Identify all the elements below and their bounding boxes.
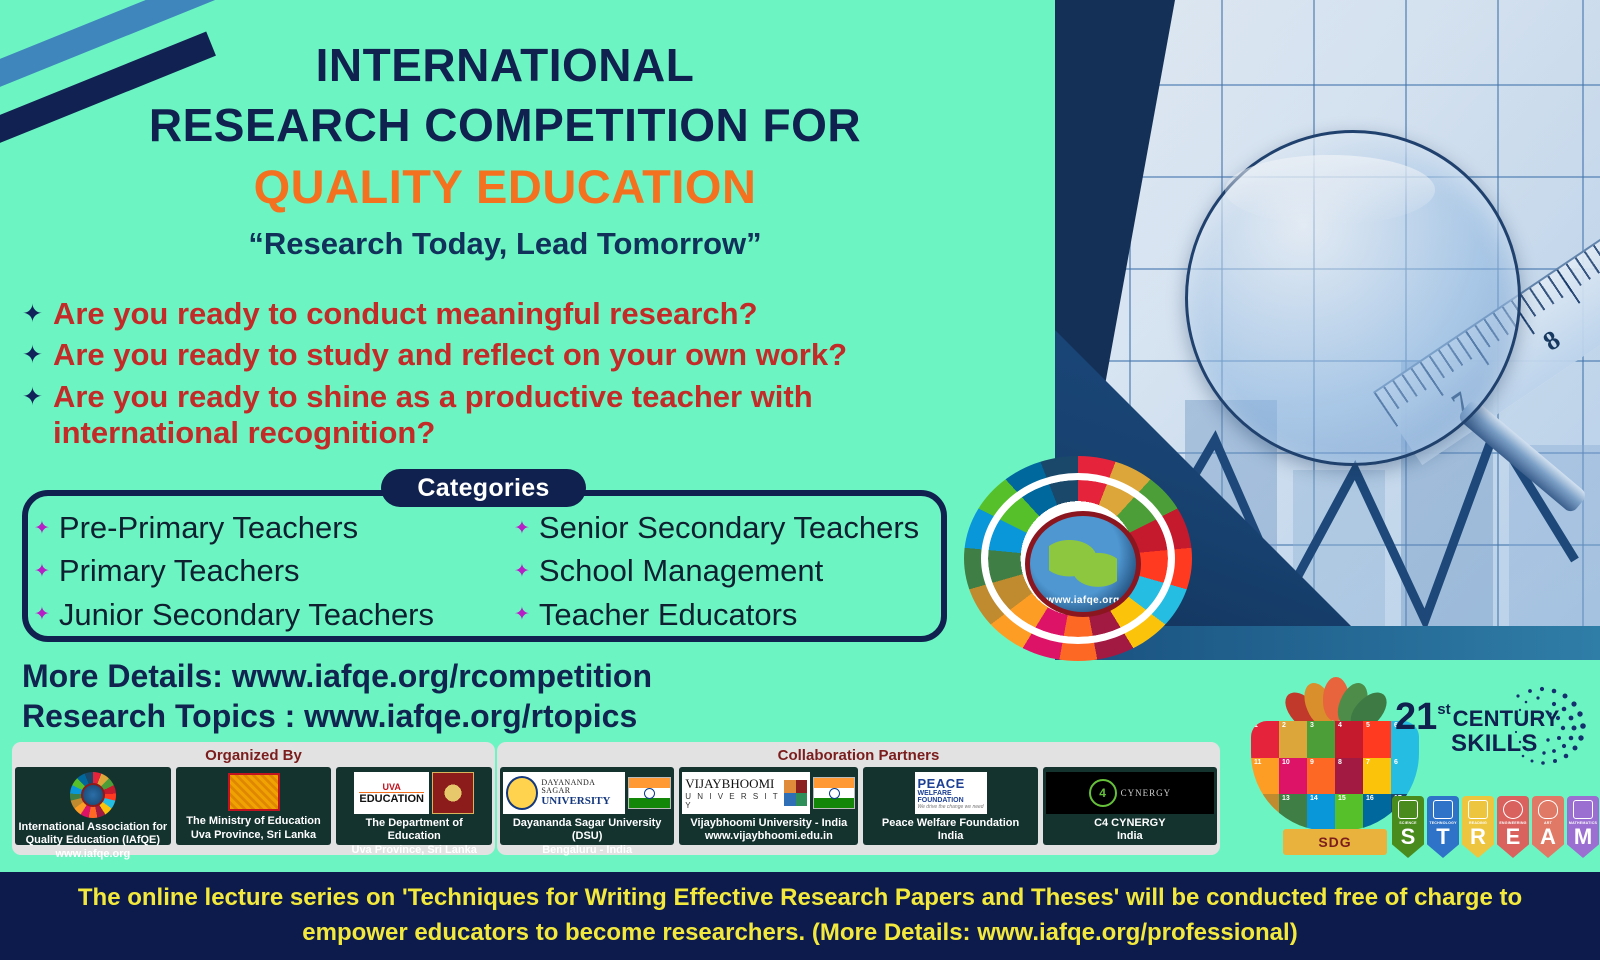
bottom-banner: The online lecture series on 'Techniques…: [0, 872, 1600, 960]
stream-badge-letter: T: [1436, 826, 1449, 848]
stream-badge-technology[interactable]: TECHNOLOGY T: [1427, 796, 1459, 858]
question-text: Are you ready to conduct meaningful rese…: [53, 296, 758, 332]
question-item: ✦ Are you ready to conduct meaningful re…: [22, 296, 982, 332]
partner-caption-line: The Department of Education: [339, 817, 489, 844]
sdg-wheel-logo: www.iafqe.org: [964, 456, 1192, 661]
partner-caption-line: India: [938, 830, 964, 843]
categories-column-right: ✦ Senior Secondary Teachers ✦ School Man…: [514, 508, 939, 638]
partner-caption-line: Quality Education (IAfQE): [26, 834, 160, 847]
stream-badge-letter: R: [1470, 826, 1486, 848]
century-superscript: st: [1437, 703, 1450, 717]
stream-badge-letter: M: [1574, 826, 1592, 848]
sdg-goal-number: 11: [1254, 759, 1261, 766]
uva-logo-top: UVA: [383, 782, 401, 792]
sdg-goal-number: 6: [1394, 759, 1398, 766]
sdg-goal-number: 9: [1310, 759, 1314, 766]
dsu-logo-box: DAYANANDA SAGAR UNIVERSITY: [503, 772, 625, 814]
partner-card[interactable]: 4 CYNERGY C4 CYNERGY India: [1043, 767, 1217, 845]
partner-caption-line: Peace Welfare Foundation: [882, 817, 1019, 830]
sdg-goal-number: 13: [1282, 795, 1290, 802]
century-number: 21: [1395, 700, 1437, 734]
partner-caption-line: Uva Province, Sri Lanka: [352, 844, 477, 857]
partner-caption-line: www.iafqe.org: [55, 848, 130, 861]
poster-canvas: 7 8 9 10 INTERNATIONAL RESEARCH COMPETIT…: [0, 0, 1600, 960]
category-item[interactable]: ✦ School Management: [514, 551, 939, 591]
partner-caption-line: Bengaluru - India: [542, 844, 632, 857]
dsu-logo-bottom: UNIVERSITY: [541, 796, 621, 808]
vijaybhoomi-logo-bottom: U N I V E R S I T Y: [685, 792, 781, 810]
partner-card[interactable]: International Association for Quality Ed…: [15, 767, 171, 845]
sdg-goal-number: 3: [1310, 722, 1314, 729]
details-links: More Details: www.iafqe.org/rcompetition…: [22, 657, 652, 736]
peace-welfare-foundation-logo: PEACE WELFARE FOUNDATION We drive the ch…: [915, 772, 987, 814]
palette-icon: [1538, 800, 1558, 819]
star-bullet-icon: ✦: [514, 560, 530, 583]
uva-logo-bottom: EDUCATION: [359, 792, 424, 805]
stream-badge-letter: A: [1540, 826, 1556, 848]
partner-card[interactable]: PEACE WELFARE FOUNDATION We drive the ch…: [863, 767, 1037, 845]
category-label: School Management: [539, 551, 823, 591]
collaboration-partners-panel: Collaboration Partners DAYANANDA SAGAR U…: [497, 742, 1220, 855]
pot-base-label: SDG: [1318, 834, 1351, 850]
gear-icon: [1503, 800, 1523, 819]
categories-badge: Categories: [381, 469, 586, 507]
research-topics-link[interactable]: Research Topics : www.iafqe.org/rtopics: [22, 697, 652, 737]
sdg-goal-number: 8: [1338, 759, 1342, 766]
star-bullet-icon: ✦: [34, 560, 50, 583]
category-item[interactable]: ✦ Junior Secondary Teachers: [34, 595, 514, 635]
sdg-goal-number: 4: [1338, 722, 1342, 729]
star-bullet-icon: ✦: [22, 343, 43, 368]
category-item[interactable]: ✦ Senior Secondary Teachers: [514, 508, 939, 548]
circuit-icon: [1433, 800, 1453, 819]
c4-ring-icon: 4: [1089, 779, 1117, 807]
partner-card[interactable]: The Ministry of Education Uva Province, …: [176, 767, 332, 845]
pwf-logo-box: PEACE WELFARE FOUNDATION We drive the ch…: [915, 772, 987, 814]
category-label: Teacher Educators: [539, 595, 797, 635]
uva-education-logo: UVA EDUCATION: [354, 772, 474, 814]
banner-text: The online lecture series on 'Techniques…: [40, 881, 1560, 951]
pwf-logo-top: PEACE: [918, 777, 984, 790]
partner-caption-line: Dayananda Sagar University (DSU): [503, 817, 671, 844]
page-title: INTERNATIONAL RESEARCH COMPETITION FOR Q…: [0, 42, 1010, 262]
sdg-goal-number: 7: [1366, 759, 1370, 766]
question-text: Are you ready to shine as a productive t…: [53, 379, 908, 452]
pwf-logo-bottom: FOUNDATION: [918, 797, 984, 804]
dsu-logo: DAYANANDA SAGAR UNIVERSITY: [503, 772, 671, 814]
category-label: Primary Teachers: [59, 551, 300, 591]
c4-cynergy-logo: 4 CYNERGY: [1046, 772, 1214, 814]
categories-column-left: ✦ Pre-Primary Teachers ✦ Primary Teacher…: [34, 508, 514, 638]
pot-row: 1 2 3 4 5 6: [1251, 721, 1419, 758]
title-line-3: QUALITY EDUCATION: [0, 163, 1010, 210]
uva-logo-box: UVA EDUCATION: [354, 772, 429, 814]
stream-badge-reading[interactable]: READING R: [1462, 796, 1494, 858]
partner-caption-line: Vijaybhoomi University - India: [690, 817, 847, 830]
sdg-goal-number: 14: [1310, 795, 1318, 802]
organized-by-title: Organized By: [15, 745, 492, 767]
iafqe-logo: [70, 772, 116, 818]
star-bullet-icon: ✦: [22, 385, 43, 410]
collaboration-partners-cards: DAYANANDA SAGAR UNIVERSITY Dayananda Sag…: [500, 767, 1217, 845]
tagline: “Research Today, Lead Tomorrow”: [0, 226, 1010, 262]
question-list: ✦ Are you ready to conduct meaningful re…: [22, 296, 982, 456]
india-flag-icon: [813, 777, 855, 809]
pwf-logo-mid: WELFARE: [918, 790, 984, 797]
partner-caption-line: International Association for: [18, 821, 167, 834]
partner-card[interactable]: VIJAYBHOOMI U N I V E R S I T Y Vijaybho…: [679, 767, 858, 845]
category-item[interactable]: ✦ Primary Teachers: [34, 551, 514, 591]
vijaybhoomi-logo-box: VIJAYBHOOMI U N I V E R S I T Y: [682, 772, 810, 814]
collaboration-partners-title: Collaboration Partners: [500, 745, 1217, 767]
sdg-goal-number: 12: [1254, 795, 1262, 802]
star-bullet-icon: ✦: [514, 517, 530, 540]
department-crest-icon: [432, 772, 474, 814]
partner-caption-line: India: [1117, 830, 1143, 843]
partner-caption-line: Uva Province, Sri Lanka: [191, 829, 316, 842]
pot-base: SDG: [1283, 829, 1387, 855]
molecule-icon: [1398, 800, 1418, 819]
category-label: Junior Secondary Teachers: [59, 595, 434, 635]
pwf-logo-tagline: We drive the change we need: [918, 804, 984, 810]
categories-columns: ✦ Pre-Primary Teachers ✦ Primary Teacher…: [34, 508, 939, 638]
stream-badge-art[interactable]: ART A: [1532, 796, 1564, 858]
globe-land-icon: [1049, 537, 1117, 591]
organized-by-panel: Organized By International Association f…: [12, 742, 495, 855]
vijaybhoomi-logo-top: VIJAYBHOOMI: [685, 776, 781, 792]
c4-logo-text: CYNERGY: [1121, 788, 1172, 798]
sdg-goal-number: 15: [1338, 795, 1346, 802]
pot-row: 11 10 9 8 7 6: [1251, 758, 1419, 795]
partner-caption-line: C4 CYNERGY: [1094, 817, 1166, 830]
stream-badge-science[interactable]: SCIENCE S: [1392, 796, 1424, 858]
category-item[interactable]: ✦ Pre-Primary Teachers: [34, 508, 514, 548]
sdg-goal-number: 5: [1366, 722, 1370, 729]
partner-caption-line: www.vijaybhoomi.edu.in: [705, 830, 833, 843]
vijaybhoomi-logo-text: VIJAYBHOOMI U N I V E R S I T Y: [685, 776, 781, 810]
vijaybhoomi-mark-icon: [784, 780, 808, 806]
more-details-link[interactable]: More Details: www.iafqe.org/rcompetition: [22, 657, 652, 697]
lotus-flower-icon: [1276, 677, 1396, 725]
dsu-logo-top: DAYANANDA SAGAR: [541, 779, 621, 796]
stream-badges: SCIENCE S TECHNOLOGY T READING R ENGINEE…: [1392, 796, 1599, 858]
stream-badge-letter: S: [1401, 826, 1416, 848]
star-bullet-icon: ✦: [34, 517, 50, 540]
question-item: ✦ Are you ready to study and reflect on …: [22, 337, 982, 373]
sdg-globe-hub: www.iafqe.org: [1025, 511, 1141, 617]
star-bullet-icon: ✦: [22, 302, 43, 327]
calculator-icon: [1573, 800, 1593, 819]
book-reader-icon: [1468, 800, 1488, 819]
question-text: Are you ready to study and reflect on yo…: [53, 337, 847, 373]
sdg-ring-icon: [70, 772, 116, 818]
dsu-logo-text: DAYANANDA SAGAR UNIVERSITY: [541, 779, 621, 807]
sdg-goal-number: 10: [1282, 759, 1290, 766]
star-bullet-icon: ✦: [514, 603, 530, 626]
category-label: Pre-Primary Teachers: [59, 508, 358, 548]
ministry-crest-logo: [228, 772, 280, 812]
india-flag-icon: [628, 777, 672, 809]
stream-badge-mathematics[interactable]: MATHEMATICS M: [1567, 796, 1599, 858]
title-line-2: RESEARCH COMPETITION FOR: [0, 102, 1010, 148]
crest-icon: [228, 773, 280, 811]
dotted-globe-icon: [1498, 678, 1594, 774]
c4-logo-box: 4 CYNERGY: [1046, 772, 1214, 814]
title-line-1: INTERNATIONAL: [0, 42, 1010, 88]
sdg-goal-number: 16: [1366, 795, 1374, 802]
partner-caption-line: The Ministry of Education: [186, 815, 320, 828]
stream-badge-letter: E: [1506, 826, 1521, 848]
vijaybhoomi-logo: VIJAYBHOOMI U N I V E R S I T Y: [682, 772, 855, 814]
question-item: ✦ Are you ready to shine as a productive…: [22, 379, 982, 452]
category-item[interactable]: ✦ Teacher Educators: [514, 595, 939, 635]
sdg-goal-number: 2: [1282, 722, 1286, 729]
sdg-center-url: www.iafqe.org: [1046, 595, 1119, 612]
partner-card[interactable]: UVA EDUCATION The Department of Educatio…: [336, 767, 492, 845]
sdg-goal-number: 1: [1254, 722, 1258, 729]
dsu-seal-icon: [506, 776, 538, 810]
category-label: Senior Secondary Teachers: [539, 508, 919, 548]
stream-badge-engineering[interactable]: ENGINEERING E: [1497, 796, 1529, 858]
partner-card[interactable]: DAYANANDA SAGAR UNIVERSITY Dayananda Sag…: [500, 767, 674, 845]
organized-by-cards: International Association for Quality Ed…: [15, 767, 492, 845]
star-bullet-icon: ✦: [34, 603, 50, 626]
